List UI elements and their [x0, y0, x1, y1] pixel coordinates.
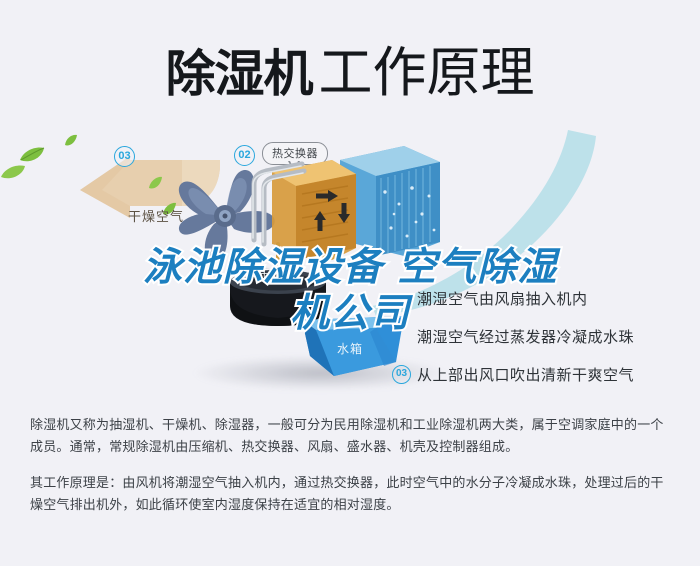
label-water-tank: 水箱 — [337, 340, 363, 357]
steps-list: 01 潮湿空气由风扇抽入机内 02 潮湿空气经过蒸发器冷凝成水珠 03 从上部出… — [392, 288, 692, 402]
step-row: 01 潮湿空气由风扇抽入机内 — [392, 288, 692, 309]
label-compressor: 压缩机 — [258, 266, 294, 282]
leaf-icon — [0, 164, 26, 186]
step-text-03: 从上部出风口吹出清新干爽空气 — [417, 364, 634, 385]
body-copy: 除湿机又称为抽湿机、干燥机、除湿器，一般可分为民用除湿机和工业除湿机两大类，属于… — [30, 415, 675, 531]
badge-03-dry-air: 03 — [114, 146, 135, 167]
step-text-02: 潮湿空气经过蒸发器冷凝成水珠 — [417, 326, 634, 347]
infographic-page: 除湿机工作原理 — [0, 0, 700, 566]
page-title-light: 工作原理 — [319, 41, 535, 104]
step-text-01: 潮湿空气由风扇抽入机内 — [417, 288, 588, 309]
leaf-icon — [148, 176, 163, 196]
dehumidifier-unit — [244, 144, 444, 279]
leaf-icon — [64, 134, 78, 153]
step-row: 02 潮湿空气经过蒸发器冷凝成水珠 — [392, 326, 692, 347]
diagram-illustration: 03 干燥空气 01 潮湿空气 02 热交换器 — [0, 118, 700, 398]
page-title-strong: 除湿机 — [166, 45, 313, 103]
page-title: 除湿机工作原理 — [0, 28, 700, 107]
paragraph-1: 除湿机又称为抽湿机、干燥机、除湿器，一般可分为民用除湿机和工业除湿机两大类，属于… — [30, 415, 675, 459]
paragraph-2: 其工作原理是：由风机将潮湿空气抽入机内，通过热交换器，此时空气中的水分子冷凝成水… — [30, 473, 675, 517]
step-row: 03 从上部出风口吹出清新干爽空气 — [392, 364, 692, 385]
step-badge-03: 03 — [392, 365, 411, 384]
